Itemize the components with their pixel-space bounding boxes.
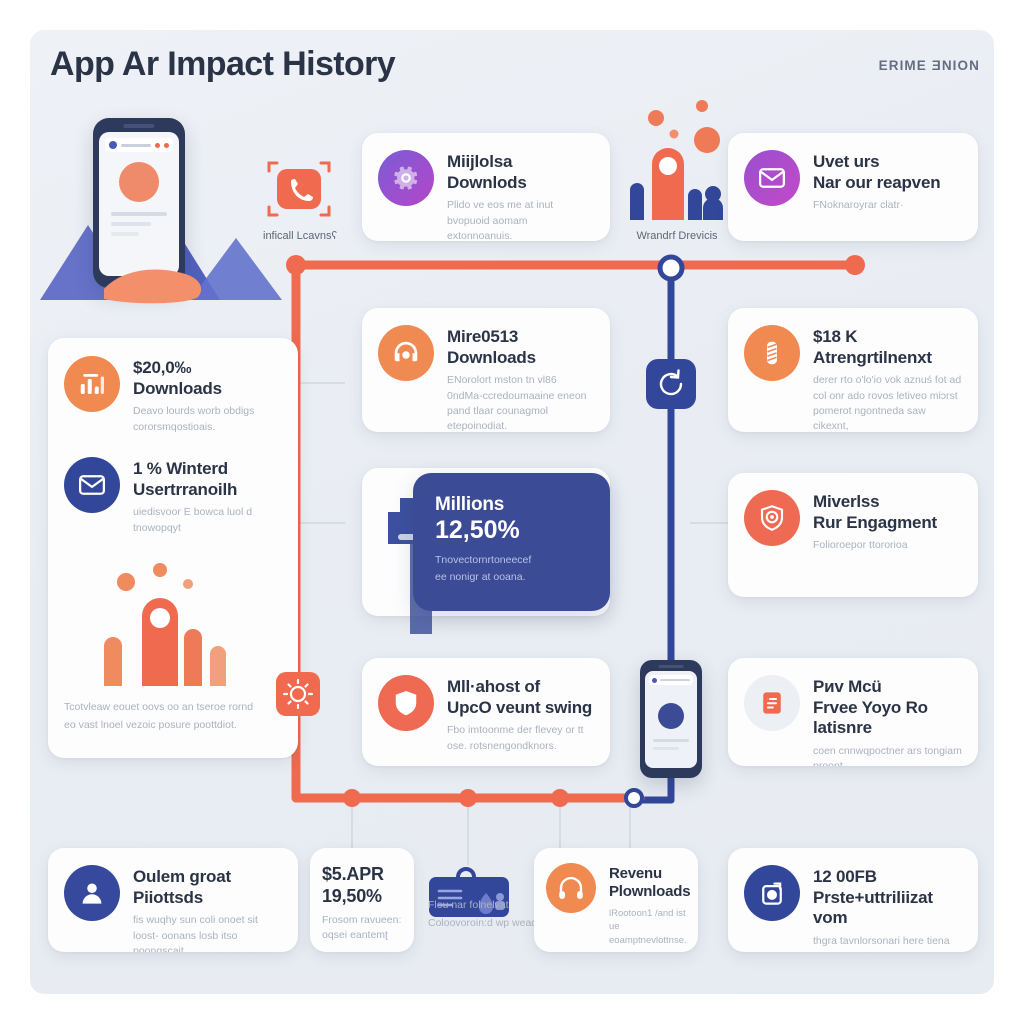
card-title-line2: Nar our reapven	[813, 173, 940, 194]
card-title-line1: $20,0‰	[133, 358, 282, 379]
gear-icon	[378, 325, 434, 381]
card-millions-navy[interactable]: Millions 12,50% Tnovectornrtoneecef ee n…	[413, 473, 610, 611]
card-title-line1: Miijlolsa	[447, 152, 594, 173]
brand-label: ERIME ƎNION	[879, 58, 980, 73]
user-icon	[64, 865, 120, 921]
gear-icon	[378, 150, 434, 206]
card-title-line2: Downloads	[133, 379, 282, 400]
navy-card-sub-line2: ee nonigr at ooana.	[435, 570, 588, 585]
card-title-line1: Pиv Mcü	[813, 677, 962, 698]
navy-card-sub-line1: Tnovectornrtoneecef	[435, 553, 588, 568]
card-title-line1: Mire0513	[447, 327, 594, 348]
card-subtitle: thgra tavnlorsonari here tiena ovrcmenrt…	[813, 934, 962, 952]
card-title-line2: Atrengrtilnenxt	[813, 348, 962, 369]
card-title-line1: Miverlss	[813, 492, 937, 513]
bookmark-icon	[744, 325, 800, 381]
card-subtitle: fis wuqhy sun coli onoet sit loost- oona…	[133, 913, 282, 952]
card-apr[interactable]: $5.APR 19,50% Frosom ravueen: oqsei eant…	[310, 848, 414, 952]
card-title-line2: Rur Engagment	[813, 513, 937, 534]
card-title-line2: Frvee Yoyo Ro latisnre	[813, 698, 962, 739]
card-users-revenue[interactable]: Uvet urs Nar our reapven FNoknaroyrar cl…	[728, 133, 978, 241]
envelope-icon	[744, 150, 800, 206]
card-subtitle: Fbo imtoonme der flevey or tt ose. rotsn…	[447, 723, 594, 753]
card-millions-downloads[interactable]: Miijlolsa Downlods Plido ve eos me at in…	[362, 133, 610, 241]
card-title-line2: Usertrranoilh	[133, 480, 282, 501]
left-stats-panel[interactable]: $20,0‰ Downloads Deavo lourds worb obdig…	[48, 338, 298, 758]
chart-bars-icon	[64, 356, 120, 412]
card-upcoming-event[interactable]: Mll·ahost of UpcO veunt swing Fbo imtoon…	[362, 658, 610, 766]
archive-icon	[744, 865, 800, 921]
card-title-line2: Plownloads	[609, 883, 686, 901]
card-subtitle: uiedisvoor E bowca luol d tnowopqyt	[133, 505, 282, 535]
shield-icon	[378, 675, 434, 731]
devices-caption: Wrandrf Drevicis	[612, 230, 742, 242]
card-subtitle: ENorolort mston tn vl86 0ndMa-ccredoumaa…	[447, 373, 594, 432]
call-badge-icon[interactable]	[265, 155, 333, 223]
card-subtitle: derer rto o'lo'io vok aznuś fot ad col o…	[813, 373, 962, 432]
card-subtitle: FNoknaroyrar clatr·	[813, 198, 940, 213]
card-utilization[interactable]: 12 00FB Prste+uttriliizat vom thgra tavn…	[728, 848, 978, 952]
page-title: App Ar Impact History	[50, 45, 395, 84]
left-chart-caption-line1: Tcotvleaw eouet oovs oo an tseroe rornd	[64, 700, 284, 716]
card-subtitle: Deavo lourds worb obdigs cororsmqostioai…	[133, 404, 282, 434]
card-subtitle: coen cnnwqpoctner ars tongiam proopt.	[813, 744, 962, 766]
card-more-downloads[interactable]: Mire0513 Downloads ENorolort mston tn vl…	[362, 308, 610, 432]
clipboard-icon	[744, 675, 800, 731]
card-title-line1: 12 00FB	[813, 867, 962, 888]
card-title-line2: Downlods	[447, 173, 594, 194]
card-subtitle: Frosom ravueen: oqsei eantemʈ	[322, 913, 402, 943]
left-chart-illustration	[88, 560, 258, 690]
refresh-node-chip[interactable]	[640, 355, 702, 413]
devices-chart-illustration	[618, 92, 736, 227]
card-user-growth[interactable]: 1 % Winterd Usertrranoilh uiedisvoor E b…	[48, 435, 298, 536]
card-subtitle: Folioroepor ttororioa	[813, 538, 937, 553]
card-title-line2: Downloads	[447, 348, 594, 369]
card-title-line1: $18 K	[813, 327, 962, 348]
card-title-line2: Prste+uttriliizat vom	[813, 888, 962, 929]
briefcase-caption-line1: Flou nar folnelvat	[428, 898, 548, 914]
card-title-line1: $5.APR	[322, 864, 402, 886]
card-subtitle: lRootoon1 /and ist ue eoamptnevlottnse.	[609, 907, 686, 948]
hand-illustration	[100, 255, 210, 305]
card-user-engagement[interactable]: Miverlss Rur Engagment Folioroepor ttoro…	[728, 473, 978, 597]
card-18k-engagement[interactable]: $18 K Atrengrtilnenxt derer rto o'lo'io …	[728, 308, 978, 432]
card-title-line2: UpcO veunt swing	[447, 698, 594, 719]
shield-target-icon	[744, 490, 800, 546]
card-free-relative[interactable]: Pиv Mcü Frvee Yoyo Ro latisnre coen cnnw…	[728, 658, 978, 766]
card-outcome-products[interactable]: Oulem groat Piiottsds fis wuqhy sun coli…	[48, 848, 298, 952]
card-title-line2: Piiottsds	[133, 888, 282, 909]
card-title-line2: 19,50%	[322, 886, 402, 908]
left-chart-caption-line2: eo vast lnoel vezoic posure poottdiot.	[64, 718, 284, 734]
card-subtitle: Plido ve eos me at inut bvopuoid aomam e…	[447, 198, 594, 241]
card-title-line1: 1 % Winterd	[133, 459, 282, 480]
card-20b-downloads[interactable]: $20,0‰ Downloads Deavo lourds worb obdig…	[48, 338, 298, 435]
settings-node-chip[interactable]	[274, 670, 322, 718]
card-title-line1: Revenu	[609, 865, 686, 883]
infographic-root: inficall Lcavnsʕ Wrandrf Drevicis Miijlo…	[0, 0, 1024, 1024]
call-badge-label: inficall Lcavnsʕ	[248, 230, 352, 242]
phone-mockup-small[interactable]	[640, 660, 702, 778]
card-title-line1: Mll·ahost of	[447, 677, 594, 698]
envelope-icon	[64, 457, 120, 513]
card-title-line1: Uvet urs	[813, 152, 940, 173]
card-title-line1: Oulem groat	[133, 867, 282, 888]
card-revenue-downloads[interactable]: Revenu Plownloads lRootoon1 /and ist ue …	[534, 848, 698, 952]
navy-card-value: 12,50%	[435, 517, 588, 545]
navy-card-title: Millions	[435, 493, 588, 516]
headphone-icon	[546, 863, 596, 913]
